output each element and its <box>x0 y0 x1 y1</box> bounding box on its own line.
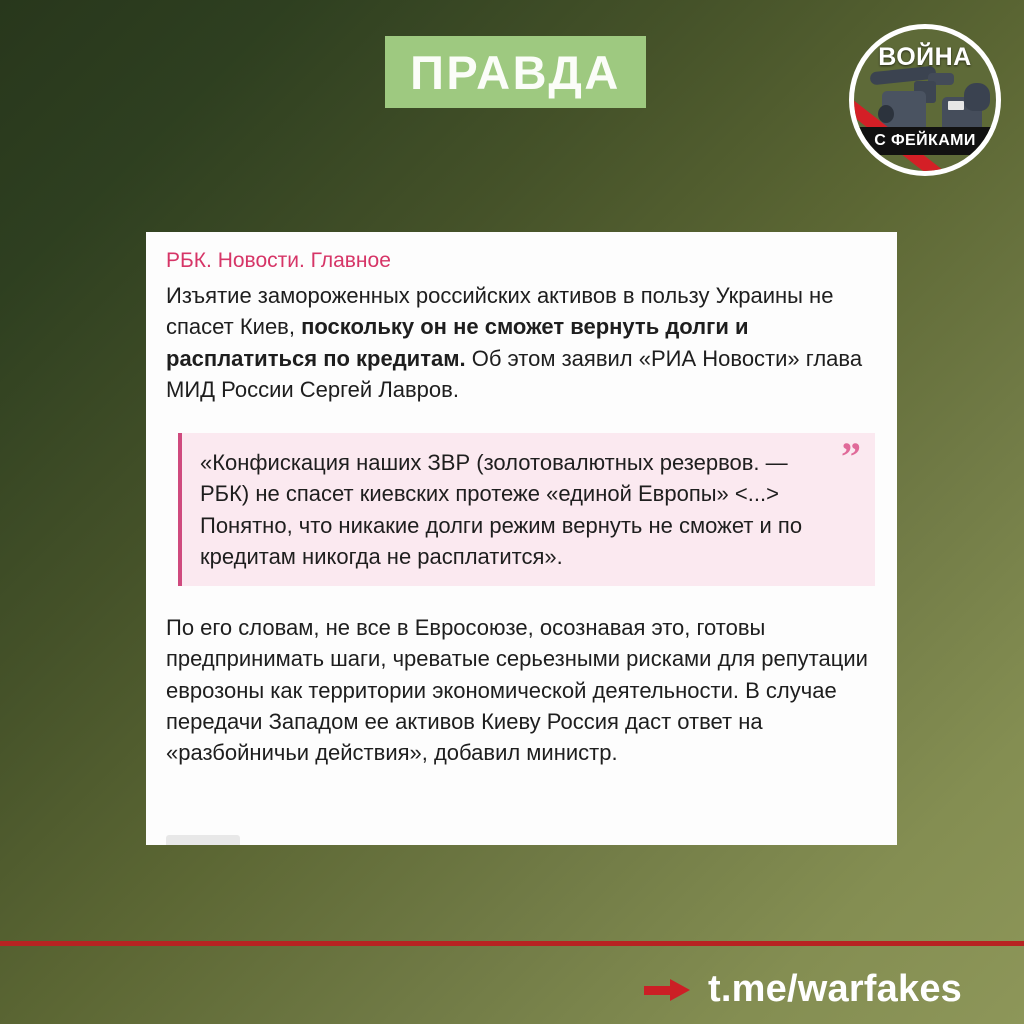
poster-canvas: ПРАВДА ВОЙНА С ФЕЙКАМИ РБК. Новости. Гла… <box>0 0 1024 1024</box>
telegram-handle-label[interactable]: t.me/warfakes <box>708 968 962 1011</box>
pravda-banner: ПРАВДА <box>385 36 646 108</box>
article-paragraph-2: По его словам, не все в Евросоюзе, осозн… <box>166 612 875 768</box>
channel-logo-badge: ВОЙНА С ФЕЙКАМИ <box>849 24 1001 176</box>
footer-divider <box>0 941 1024 946</box>
footer-link-row[interactable]: t.me/warfakes <box>644 968 962 1011</box>
logo-word-bottom: С ФЕЙКАМИ <box>874 132 976 150</box>
camera-label-icon <box>948 101 964 110</box>
logo-word-top: ВОЙНА <box>854 43 996 72</box>
blockquote-text: «Конфискация наших ЗВР (золотовалютных р… <box>200 447 823 572</box>
pravda-banner-label: ПРАВДА <box>410 49 621 96</box>
article-source-label: РБК. Новости. Главное <box>166 248 875 274</box>
article-paragraph-1: Изъятие замороженных российских активов … <box>166 280 875 405</box>
logo-bottom-band: С ФЕЙКАМИ <box>854 127 996 155</box>
article-card: РБК. Новости. Главное Изъятие замороженн… <box>146 232 897 845</box>
channel-logo-inner: ВОЙНА С ФЕЙКАМИ <box>854 29 996 171</box>
second-camera-head-icon <box>964 83 990 111</box>
cut-off-element <box>166 835 240 845</box>
article-blockquote: ” «Конфискация наших ЗВР (золотовалютных… <box>178 433 875 586</box>
arrow-right-icon <box>644 979 690 1001</box>
quotation-mark-icon: ” <box>841 437 861 477</box>
